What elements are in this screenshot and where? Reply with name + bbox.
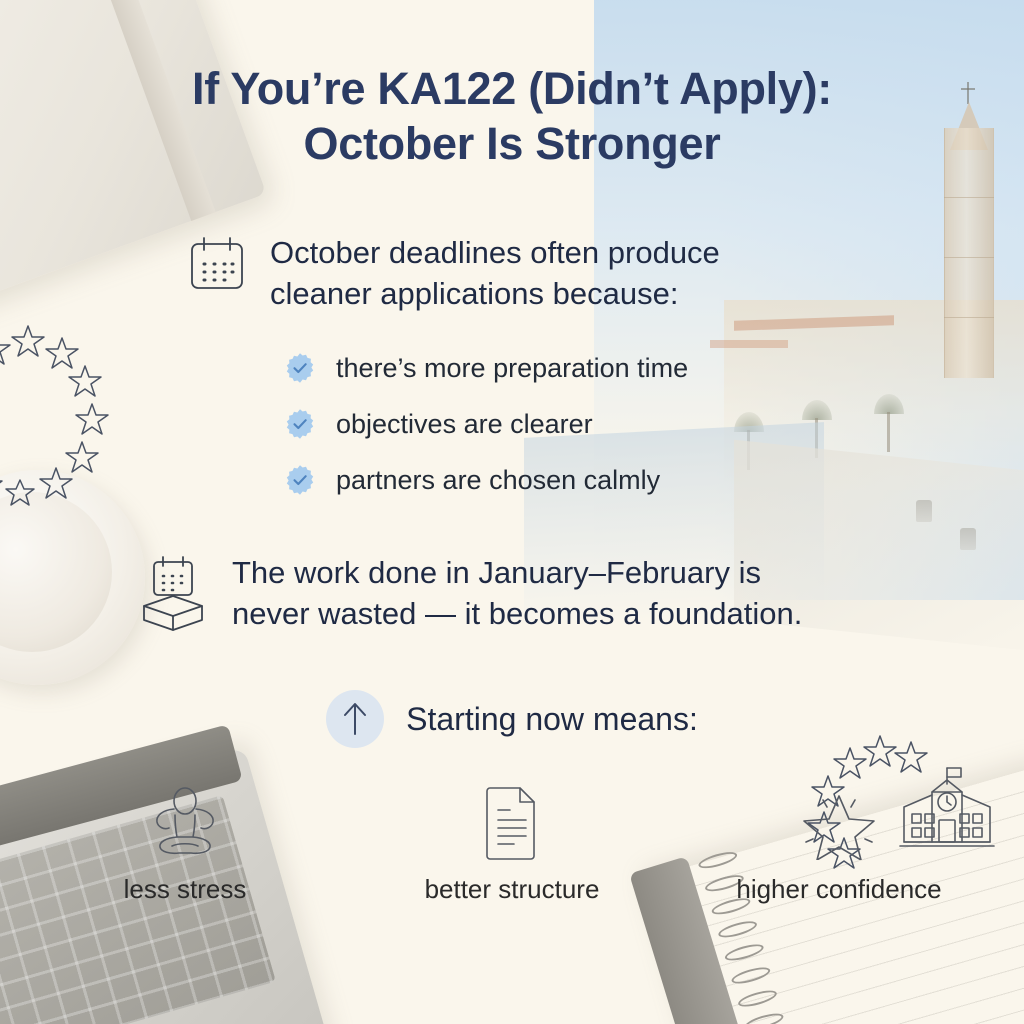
- outcome-item: better structure: [405, 782, 620, 905]
- outcome-item: less stress: [78, 782, 293, 905]
- arrow-up-icon: [326, 690, 384, 748]
- star-sparkle-icon: [799, 782, 879, 860]
- calendar-on-box-icon: [136, 552, 210, 637]
- deadlines-line-1: October deadlines often produce: [270, 232, 720, 273]
- poster-canvas: If You’re KA122 (Didn’t Apply): October …: [0, 0, 1024, 1024]
- list-item: there’s more preparation time: [284, 352, 688, 384]
- content-layer: If You’re KA122 (Didn’t Apply): October …: [0, 0, 1024, 1024]
- list-item-label: objectives are clearer: [336, 409, 593, 440]
- checklist: there’s more preparation time objectives…: [284, 352, 688, 496]
- list-item: objectives are clearer: [284, 408, 688, 440]
- check-badge-icon: [284, 464, 316, 496]
- starting-now-label: Starting now means:: [406, 701, 698, 738]
- deadlines-text: October deadlines often produce cleaner …: [270, 232, 720, 314]
- title-line-1: If You’re KA122 (Didn’t Apply):: [192, 63, 832, 114]
- outcome-label: better structure: [425, 874, 600, 905]
- list-item: partners are chosen calmly: [284, 464, 688, 496]
- deadlines-line-2: cleaner applications because:: [270, 273, 720, 314]
- deadlines-block: October deadlines often produce cleaner …: [186, 232, 720, 314]
- list-item-label: there’s more preparation time: [336, 353, 688, 384]
- outcome-label: higher confidence: [736, 874, 941, 905]
- foundation-line-1: The work done in January–February is: [232, 552, 802, 593]
- outcome-item: higher confidence: [732, 782, 947, 905]
- calendar-icon: [186, 232, 248, 299]
- foundation-block: The work done in January–February is nev…: [136, 552, 802, 637]
- foundation-text: The work done in January–February is nev…: [232, 552, 802, 634]
- page-title: If You’re KA122 (Didn’t Apply): October …: [0, 62, 1024, 172]
- starting-now-block: Starting now means:: [0, 690, 1024, 748]
- title-line-2: October Is Stronger: [0, 117, 1024, 172]
- outcomes-row: less stress: [0, 782, 1024, 905]
- outcome-label: less stress: [124, 874, 247, 905]
- meditation-icon: [146, 782, 224, 860]
- foundation-line-2: never wasted — it becomes a foundation.: [232, 593, 802, 634]
- check-badge-icon: [284, 352, 316, 384]
- check-badge-icon: [284, 408, 316, 440]
- list-item-label: partners are chosen calmly: [336, 465, 660, 496]
- document-icon: [480, 782, 544, 860]
